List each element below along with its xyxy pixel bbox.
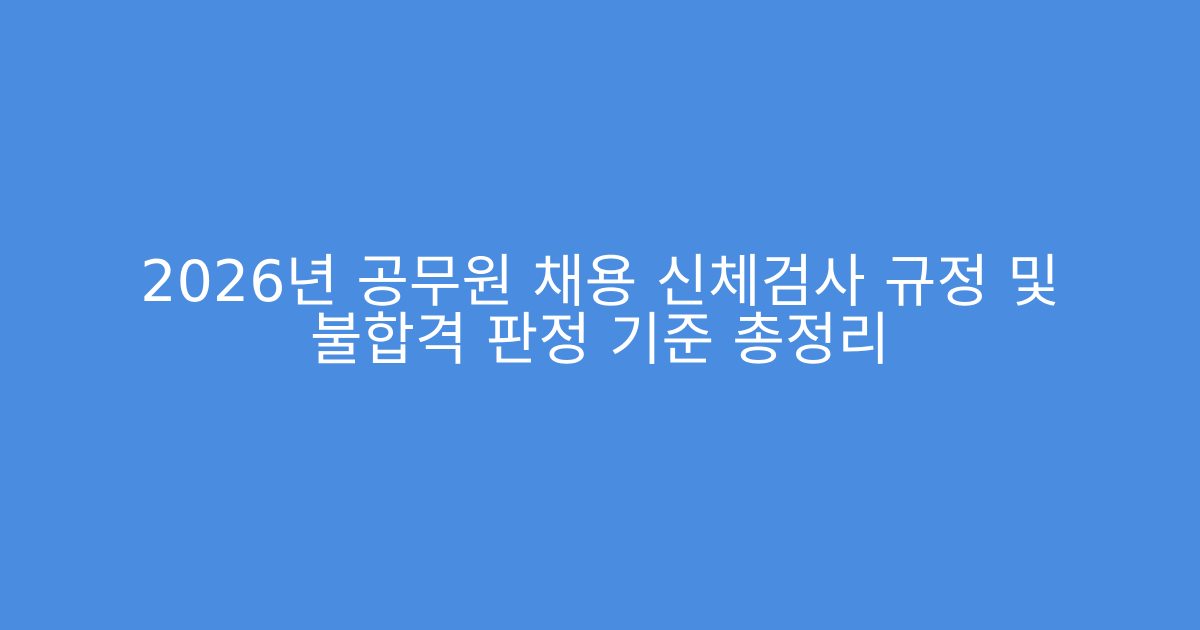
title-container: 2026년 공무원 채용 신체검사 규정 및 불합격 판정 기준 총정리: [60, 253, 1140, 369]
og-image-card: 2026년 공무원 채용 신체검사 규정 및 불합격 판정 기준 총정리: [0, 0, 1200, 630]
page-title: 2026년 공무원 채용 신체검사 규정 및 불합격 판정 기준 총정리: [60, 253, 1140, 369]
